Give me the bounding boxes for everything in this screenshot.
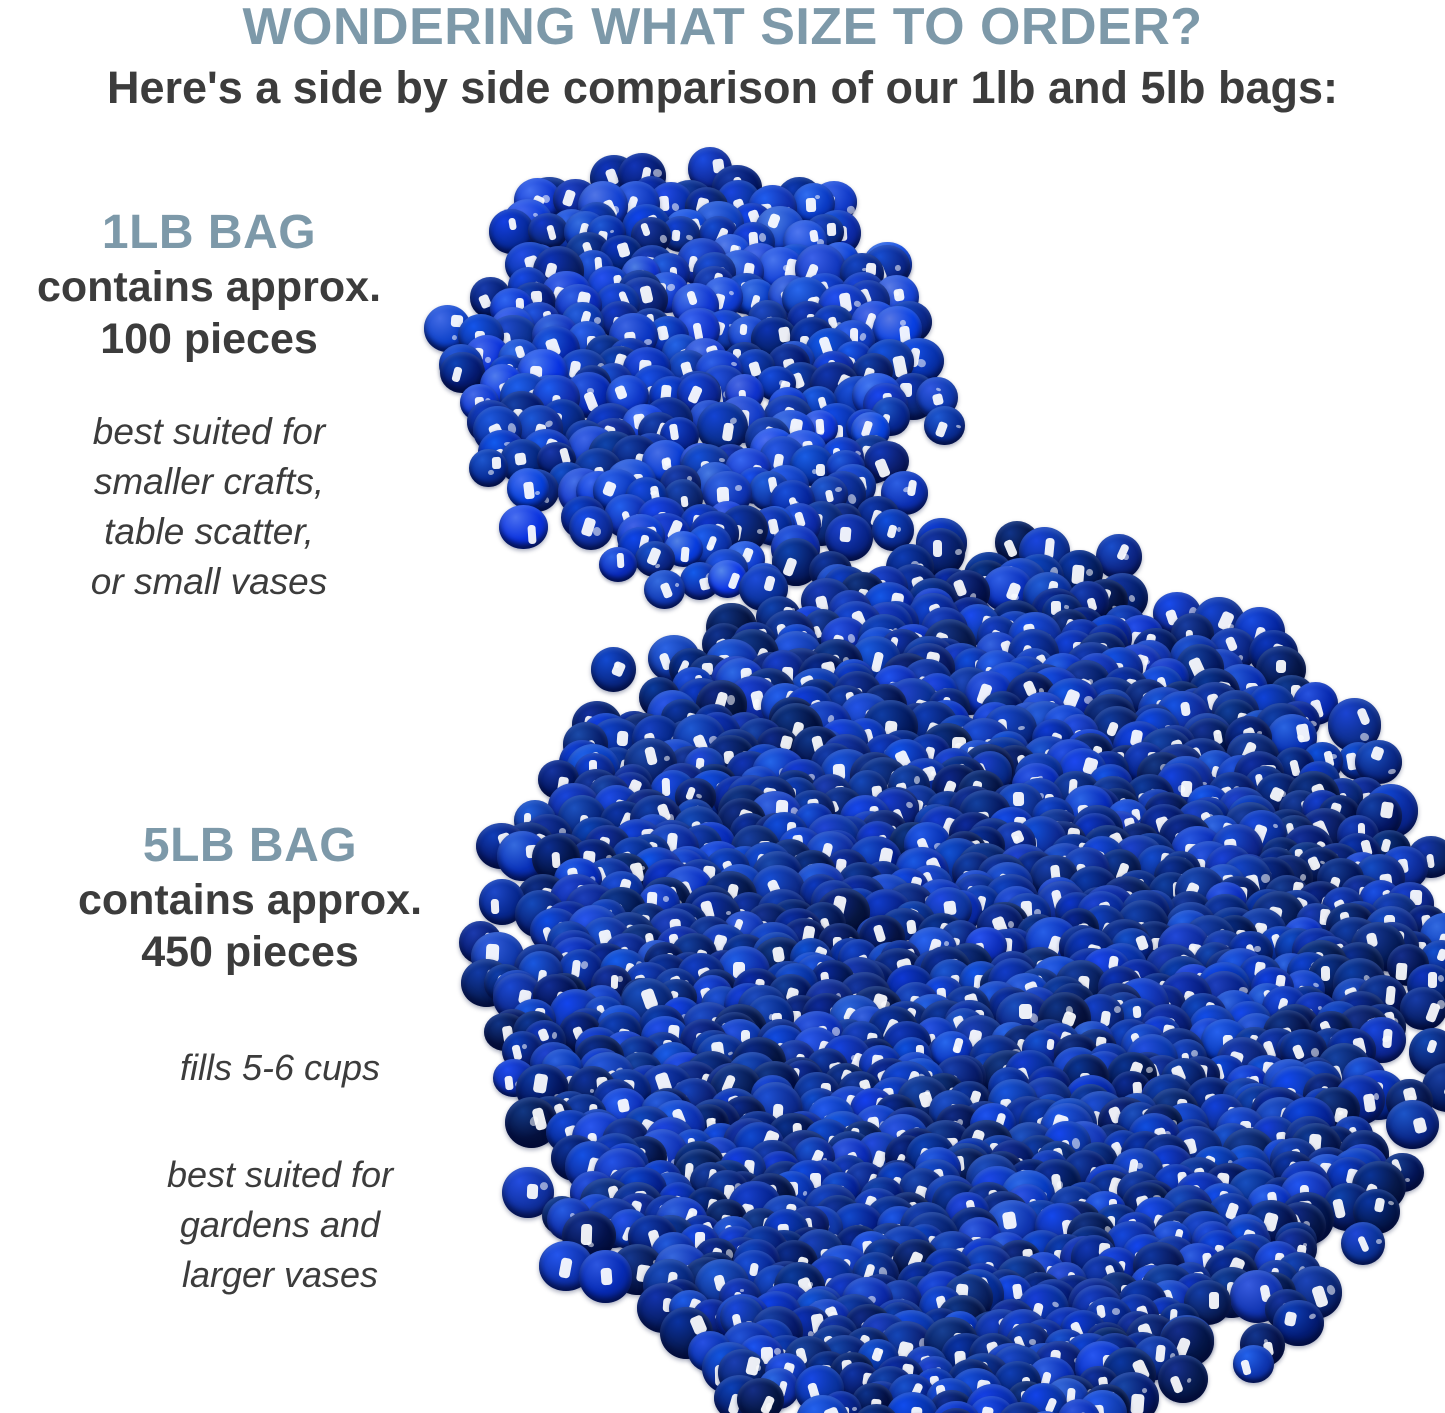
gem-glint xyxy=(1113,1005,1122,1014)
gem-highlight xyxy=(886,524,898,539)
gem-glint xyxy=(1065,1005,1073,1015)
bag-note-line: fills 5-6 cups xyxy=(60,1043,500,1093)
bag-note-line: best suited for xyxy=(60,1150,500,1200)
glass-gem xyxy=(1341,1222,1385,1265)
gem-glint xyxy=(1310,1048,1319,1058)
gem-highlight xyxy=(644,746,658,766)
gem-highlight xyxy=(616,731,628,747)
gem-highlight xyxy=(1321,966,1330,981)
gem-highlight xyxy=(1396,962,1408,980)
gem-glint xyxy=(1085,568,1095,578)
bag-notes-5lb: best suited for gardens and larger vases xyxy=(60,1150,500,1300)
gem-glint xyxy=(1135,1163,1142,1170)
gem-highlight xyxy=(1013,792,1024,806)
gem-glint xyxy=(1122,553,1128,560)
gem-glint xyxy=(587,1241,596,1248)
bag-info-1lb: 1LB BAG contains approx. 100 pieces best… xyxy=(0,205,418,607)
gem-highlight xyxy=(1292,1044,1305,1061)
glass-gem xyxy=(1386,1100,1439,1149)
gem-highlight xyxy=(1380,801,1394,819)
gem-highlight xyxy=(1003,539,1017,558)
gem-glint xyxy=(663,895,670,902)
glass-gem xyxy=(1233,1345,1275,1383)
gem-highlight xyxy=(1240,1359,1251,1375)
gem-glint xyxy=(539,1181,550,1192)
gem-highlight xyxy=(1426,1039,1438,1054)
gem-highlight xyxy=(1155,1344,1166,1361)
gem-glint xyxy=(1128,594,1136,603)
gem-highlight xyxy=(981,1406,994,1413)
gem-glint xyxy=(1111,1308,1119,1315)
gem-glint xyxy=(1308,1313,1316,1320)
gem-highlight xyxy=(1130,1394,1144,1413)
glass-gem xyxy=(1158,1355,1208,1403)
gem-highlight xyxy=(527,1184,538,1199)
gem-glint xyxy=(1330,754,1337,759)
gem-glint xyxy=(1388,768,1397,775)
gem-glint xyxy=(1186,1378,1193,1385)
gem-highlight xyxy=(1427,972,1436,988)
gem-glint xyxy=(755,1364,761,1370)
gem-glint xyxy=(1303,1242,1308,1246)
bag-note-line: larger vases xyxy=(60,1250,500,1300)
glass-gem xyxy=(591,647,636,692)
gem-glint xyxy=(521,1044,527,1050)
bag-note-volume-5lb: fills 5-6 cups xyxy=(60,1043,500,1093)
gem-highlight xyxy=(558,1257,573,1279)
gem-highlight xyxy=(822,1406,842,1413)
gem-glint xyxy=(954,548,962,555)
gem-glint xyxy=(1373,1092,1379,1100)
gem-glint xyxy=(617,976,623,983)
gem-highlight xyxy=(491,899,500,914)
gem-glint xyxy=(1359,732,1370,742)
gem-highlight xyxy=(1412,1117,1427,1135)
bag-title-1lb: 1LB BAG xyxy=(0,205,418,261)
gem-highlight xyxy=(1209,1292,1219,1309)
gem-glint xyxy=(663,755,670,762)
bag-note-line: best suited for xyxy=(0,407,418,457)
bag-note-line: table scatter, xyxy=(0,507,418,557)
gem-glint xyxy=(808,1281,814,1287)
gem-glint xyxy=(896,526,901,532)
infographic-page: WONDERING WHAT SIZE TO ORDER? Here's a s… xyxy=(0,0,1445,1413)
gem-highlight xyxy=(532,1073,548,1094)
bag-note-line: smaller crafts, xyxy=(0,457,418,507)
bag-info-5lb: 5LB BAG contains approx. 450 pieces xyxy=(30,818,470,978)
bag-notes-1lb: best suited for smaller crafts, table sc… xyxy=(0,407,418,607)
gem-highlight xyxy=(617,1098,631,1113)
gem-glint xyxy=(1017,726,1025,732)
gem-highlight xyxy=(763,575,776,592)
bag-note-line: gardens and xyxy=(60,1200,500,1250)
gem-highlight xyxy=(1133,1006,1142,1019)
gem-highlight xyxy=(1332,1198,1346,1218)
glass-gem xyxy=(1096,534,1142,579)
gem-glint xyxy=(905,801,914,810)
gem-highlight xyxy=(1356,707,1371,726)
gem-glint xyxy=(727,694,736,705)
gem-highlight xyxy=(1002,1212,1017,1231)
gem-highlight xyxy=(504,1075,513,1090)
bag-desc-line1-1lb: contains approx. xyxy=(0,261,418,313)
gem-highlight xyxy=(1374,1198,1385,1214)
gem-glint xyxy=(740,1289,744,1292)
gem-glint xyxy=(580,960,589,970)
gem-glint xyxy=(1325,1283,1336,1295)
bag-desc-line2-5lb: 450 pieces xyxy=(30,926,470,978)
gem-glint xyxy=(954,1046,959,1053)
gem-glint xyxy=(852,1406,857,1410)
gem-highlight xyxy=(1357,1235,1370,1253)
gem-highlight xyxy=(1370,746,1385,762)
bag-desc-line2-1lb: 100 pieces xyxy=(0,313,418,365)
bag-desc-line1-5lb: contains approx. xyxy=(30,874,470,926)
gem-glint xyxy=(1273,823,1279,829)
gem-glint xyxy=(711,1117,716,1121)
gem-glint xyxy=(1376,1239,1383,1245)
gem-glint xyxy=(1141,1387,1148,1394)
gem-highlight xyxy=(1276,660,1286,674)
gem-glint xyxy=(1008,920,1015,928)
bag-title-5lb: 5LB BAG xyxy=(30,818,470,874)
gem-highlight xyxy=(601,1267,613,1285)
gem-highlight xyxy=(1046,1038,1055,1050)
gem-highlight xyxy=(873,924,887,943)
gem-highlight xyxy=(1436,948,1445,962)
gem-glint xyxy=(1145,1066,1153,1074)
glass-gem xyxy=(579,1250,631,1302)
gem-glint xyxy=(1437,1000,1445,1009)
gem-highlight xyxy=(1169,1375,1184,1394)
gem-highlight xyxy=(1180,702,1191,717)
gem-glint xyxy=(1437,974,1445,983)
gem-glint xyxy=(1387,1200,1394,1206)
gem-glint xyxy=(914,776,920,784)
bag-note-line: or small vases xyxy=(0,557,418,607)
glass-gem xyxy=(1400,987,1445,1030)
gem-highlight xyxy=(1386,985,1397,1005)
gem-highlight xyxy=(932,540,941,557)
gem-highlight xyxy=(1283,1311,1297,1327)
gem-glint xyxy=(551,1032,557,1039)
glass-gem xyxy=(737,1378,784,1413)
